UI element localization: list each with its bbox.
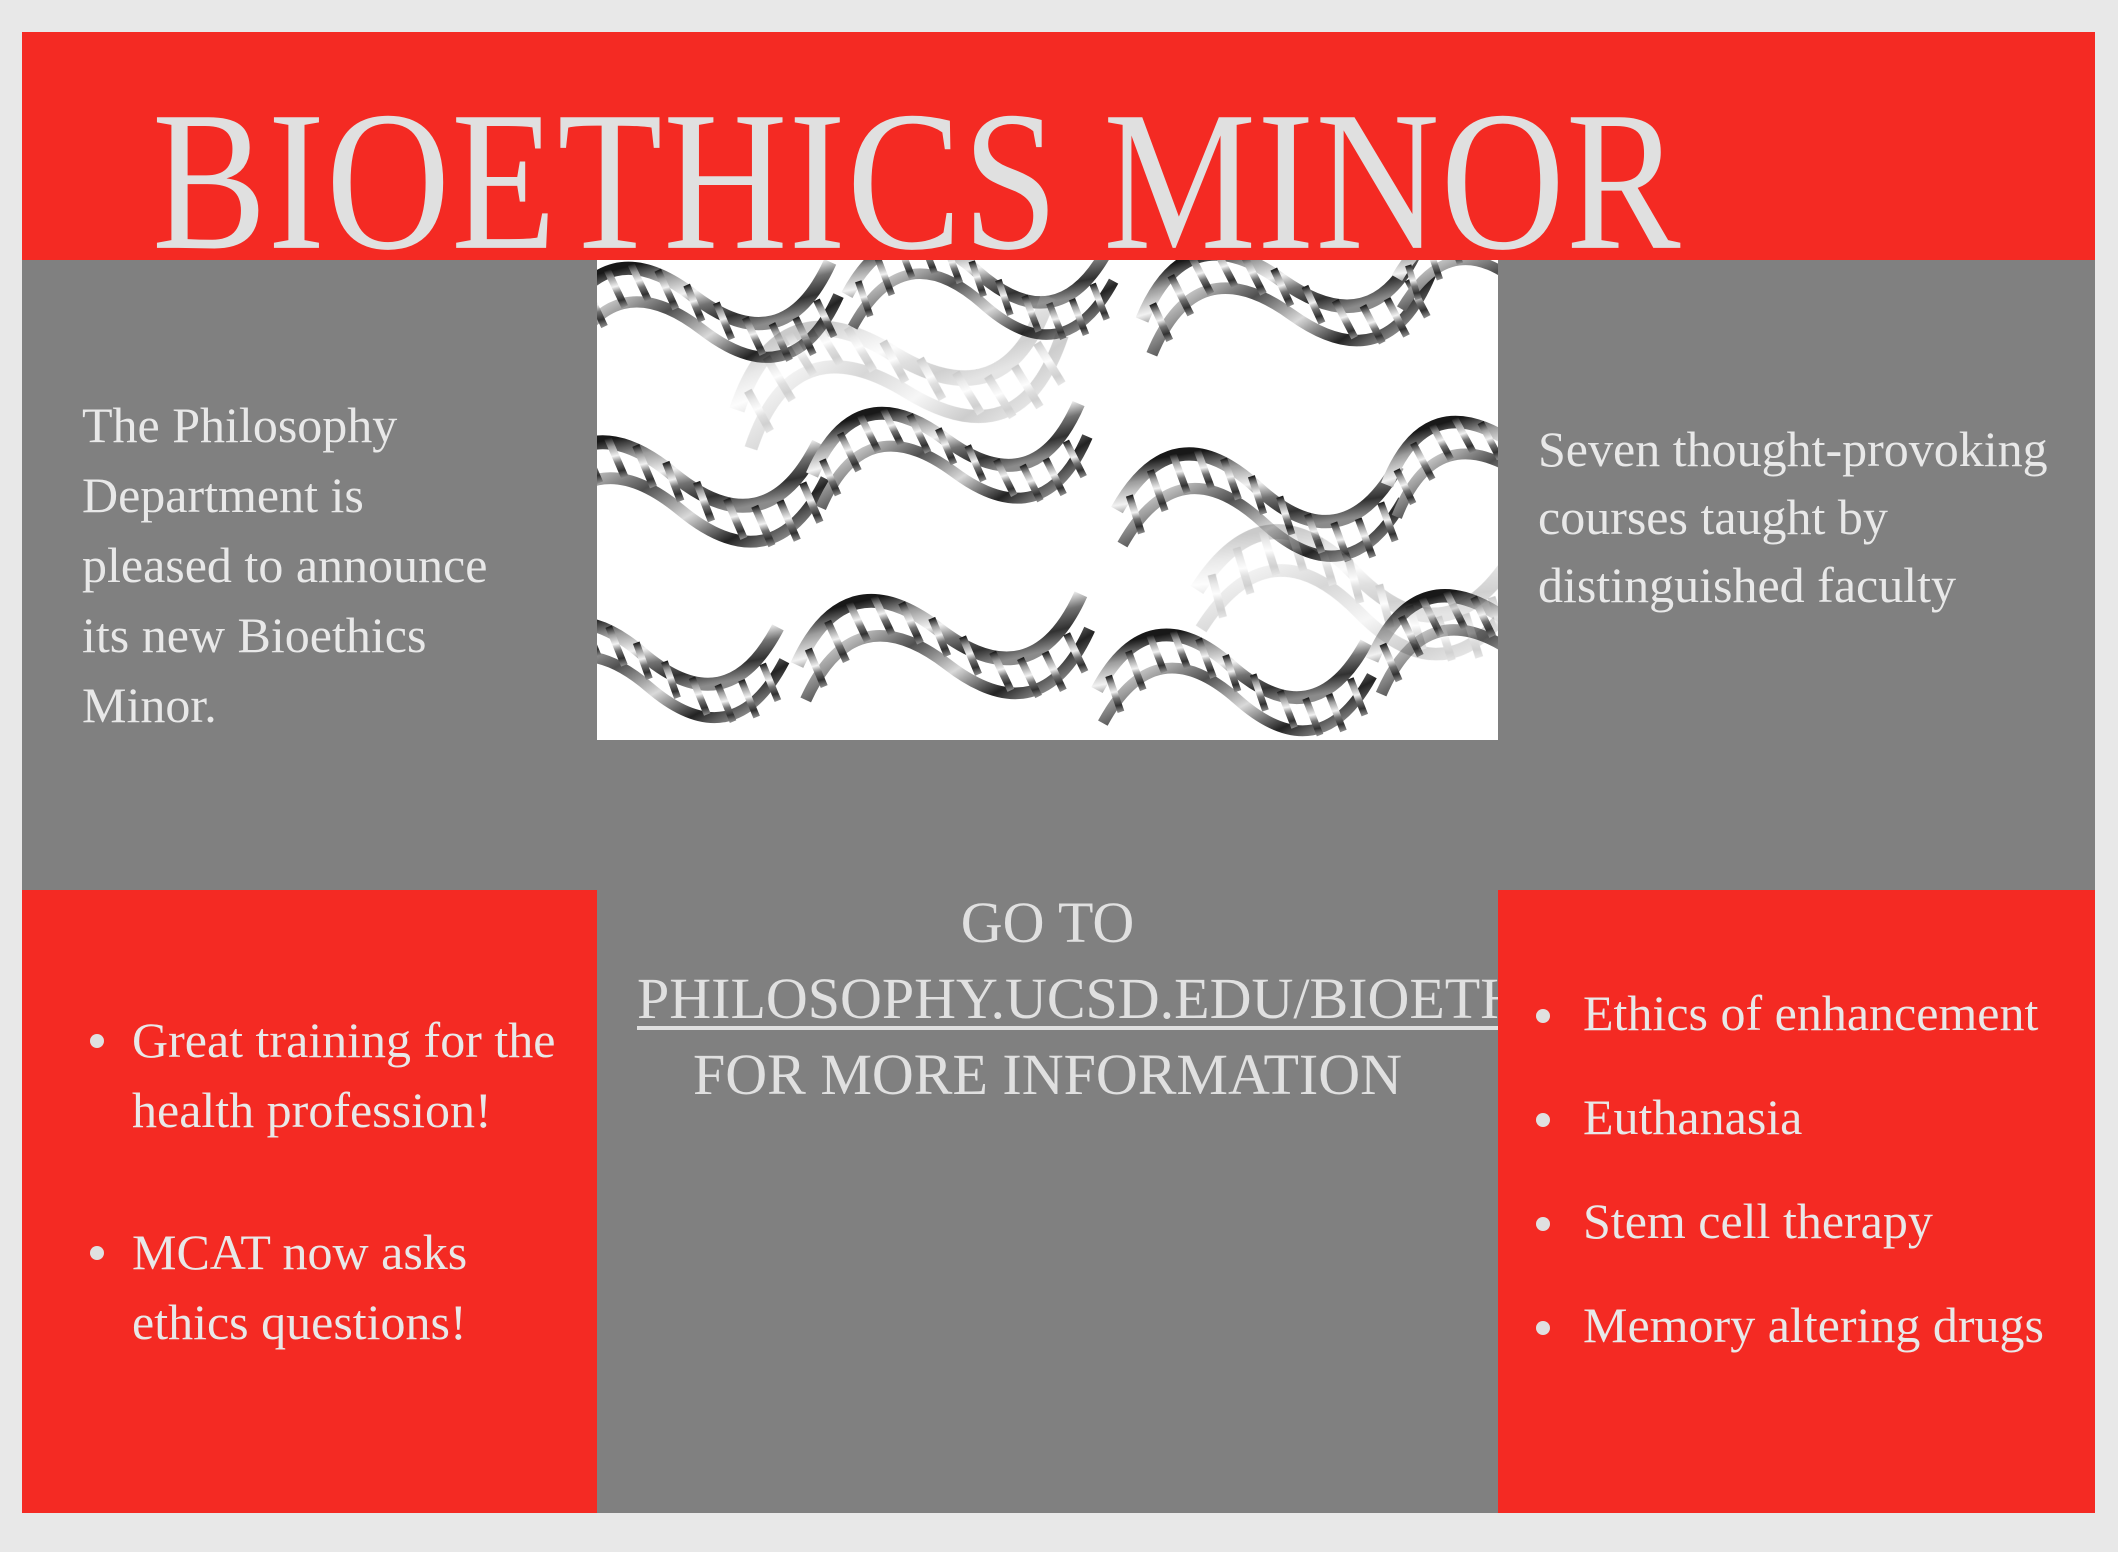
list-item-label: Ethics of enhancement [1583,985,2038,1041]
left-column: The Philosophy Department is pleased to … [22,260,597,1513]
list-item: Memory altering drugs [1498,1292,2078,1358]
bullet-dot-icon [90,1246,104,1260]
courses-intro-text: Seven thought-provoking courses taught b… [1538,415,2083,619]
list-item-label: Euthanasia [1583,1089,1802,1145]
dna-helix-graphic [597,260,1498,740]
list-item: Ethics of enhancement [1498,980,2078,1046]
poster-body: The Philosophy Department is pleased to … [22,260,2095,1513]
list-item-label: Great training for the health profession… [132,1012,555,1138]
call-to-action-block: GO TO PHILOSOPHY.UCSD.EDU/BIOETHICS.HTML… [637,885,1458,1113]
dna-double-helix-image [597,260,1498,740]
list-item: Stem cell therapy [1498,1188,2078,1254]
list-item-label: Memory altering drugs [1583,1297,2044,1353]
bullet-dot-icon [1536,1321,1550,1335]
bullet-dot-icon [1536,1009,1550,1023]
center-column: GO TO PHILOSOPHY.UCSD.EDU/BIOETHICS.HTML… [597,260,1498,1513]
list-item: Euthanasia [1498,1084,2078,1150]
left-benefits-list: Great training for the health profession… [52,1005,582,1429]
bullet-dot-icon [1536,1217,1550,1231]
list-item-label: MCAT now asks ethics questions! [132,1224,467,1350]
cta-suffix-text: FOR MORE INFORMATION [693,1042,1402,1107]
list-item: MCAT now asks ethics questions! [52,1217,582,1357]
cta-prefix-text: GO TO [961,890,1135,955]
list-item: Great training for the health profession… [52,1005,582,1145]
bullet-dot-icon [1536,1113,1550,1127]
department-intro-text: The Philosophy Department is pleased to … [82,390,512,740]
course-topics-list: Ethics of enhancement Euthanasia Stem ce… [1498,980,2078,1396]
list-item-label: Stem cell therapy [1583,1193,1933,1249]
bullet-dot-icon [90,1034,104,1048]
right-column: Seven thought-provoking courses taught b… [1498,260,2095,1513]
page-title: BIOETHICS MINOR [152,82,2052,260]
poster-canvas: BIOETHICS MINOR The Philosophy Departmen… [22,32,2095,1513]
poster-header-band: BIOETHICS MINOR [22,32,2095,260]
